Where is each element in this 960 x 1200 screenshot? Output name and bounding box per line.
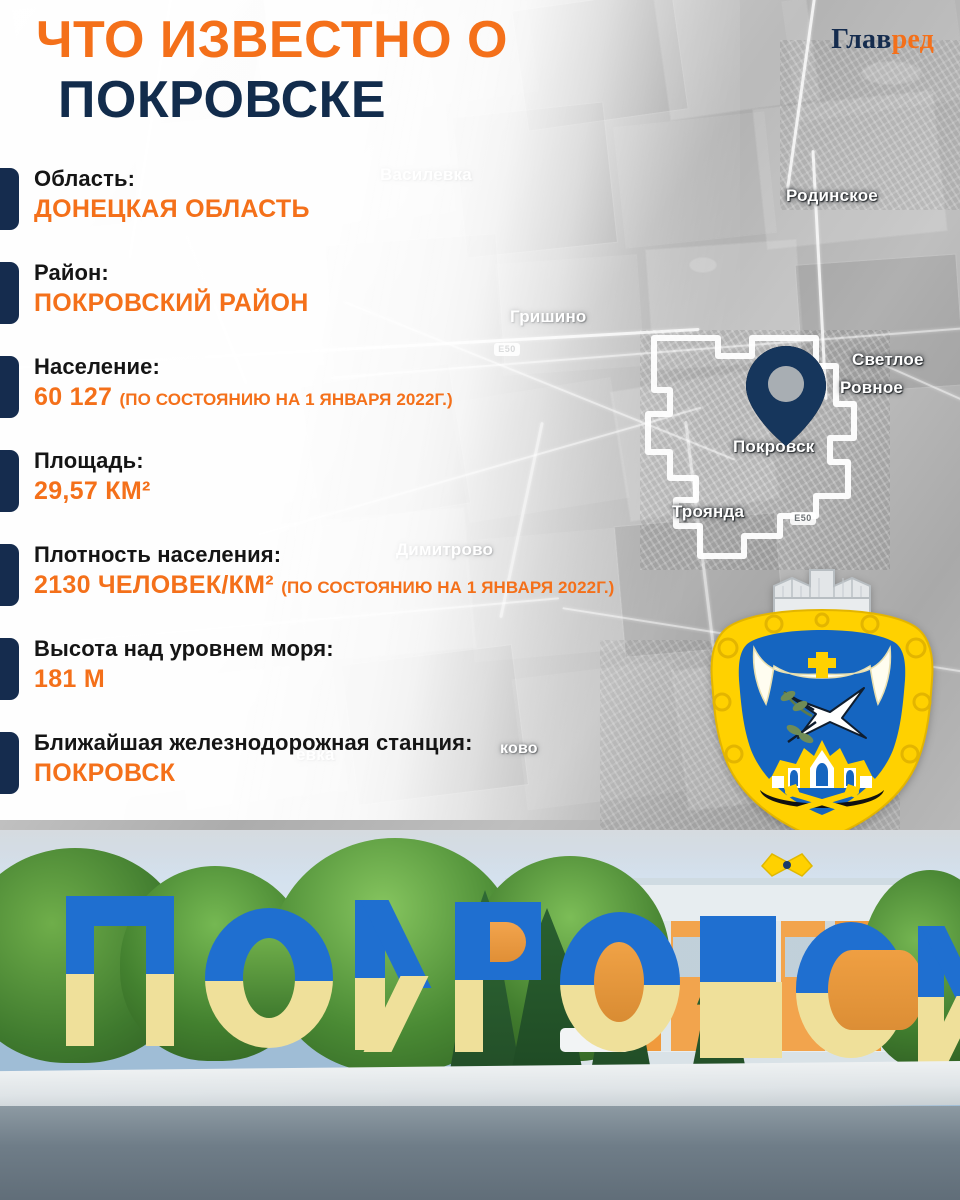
foreground-pavement xyxy=(0,1106,960,1200)
fact-item-area: Площадь: 29,57 КМ² xyxy=(0,448,780,510)
fact-label: Область: xyxy=(34,166,780,192)
fact-value: 29,57 КМ² xyxy=(34,476,780,506)
bullet-marker xyxy=(0,638,19,700)
page-title: ЧТО ИЗВЕСТНО О ПОКРОВСКЕ xyxy=(36,14,676,126)
fact-value: 181 М xyxy=(34,664,780,694)
fact-label: Население: xyxy=(34,354,780,380)
fact-label: Высота над уровнем моря: xyxy=(34,636,780,662)
fact-value: 2130 ЧЕЛОВЕК/КМ² (ПО СОСТОЯНИЮ НА 1 ЯНВА… xyxy=(34,570,780,600)
fact-item-railway-station: Ближайшая железнодорожная станция: ПОКРО… xyxy=(0,730,780,792)
fact-item-elevation: Высота над уровнем моря: 181 М xyxy=(0,636,780,698)
road-shield-e50: E50 xyxy=(790,512,816,525)
bullet-marker xyxy=(0,262,19,324)
fact-value: ДОНЕЦКАЯ ОБЛАСТЬ xyxy=(34,194,780,224)
letter-В xyxy=(700,916,776,984)
fact-note: (ПО СОСТОЯНИЮ НА 1 ЯНВАРЯ 2022Г.) xyxy=(120,390,453,409)
fact-value: 60 127 (ПО СОСТОЯНИЮ НА 1 ЯНВАРЯ 2022Г.) xyxy=(34,382,780,412)
coat-of-arms xyxy=(688,552,956,852)
city-photo xyxy=(0,830,960,1200)
facts-list: Область: ДОНЕЦКАЯ ОБЛАСТЬ Район: ПОКРОВС… xyxy=(0,166,780,824)
fact-value: ПОКРОВСКИЙ РАЙОН xyxy=(34,288,780,318)
map-label: Светлое xyxy=(852,350,924,370)
fact-item-district: Район: ПОКРОВСКИЙ РАЙОН xyxy=(0,260,780,322)
letter-С-hole xyxy=(828,950,924,1030)
fact-item-region: Область: ДОНЕЦКАЯ ОБЛАСТЬ xyxy=(0,166,780,228)
bullet-marker xyxy=(0,168,19,230)
letter-О-hole xyxy=(243,938,295,1018)
title-line-2: ПОКРОВСКЕ xyxy=(36,74,676,126)
bullet-marker xyxy=(0,732,19,794)
fact-label: Район: xyxy=(34,260,780,286)
letter-В xyxy=(700,982,782,1058)
logo-text-accent: ред xyxy=(892,24,934,55)
title-line-1: ЧТО ИЗВЕСТНО О xyxy=(36,14,676,66)
bullet-marker xyxy=(0,450,19,512)
fact-item-population: Население: 60 127 (ПО СОСТОЯНИЮ НА 1 ЯНВ… xyxy=(0,354,780,416)
fact-label: Плотность населения: xyxy=(34,542,780,568)
bullet-marker xyxy=(0,544,19,606)
bullet-marker xyxy=(0,356,19,418)
map-label: Ровное xyxy=(840,378,903,398)
infographic-canvas: Василевка Родинское Гришино Светлое Ровн… xyxy=(0,0,960,1200)
fact-label: Площадь: xyxy=(34,448,780,474)
fact-value: ПОКРОВСК xyxy=(34,758,780,788)
fact-item-density: Плотность населения: 2130 ЧЕЛОВЕК/КМ² (П… xyxy=(0,542,780,604)
fact-label: Ближайшая железнодорожная станция: xyxy=(34,730,780,756)
map-label: Родинское xyxy=(786,186,878,206)
letter-П xyxy=(66,896,174,926)
logo-text-primary: Глав xyxy=(831,24,891,55)
letter-О-hole xyxy=(594,942,644,1022)
glavred-logo[interactable]: Главред xyxy=(831,26,934,54)
mural-crown-icon xyxy=(774,570,870,614)
fact-note: (ПО СОСТОЯНИЮ НА 1 ЯНВАРЯ 2022Г.) xyxy=(281,578,614,597)
